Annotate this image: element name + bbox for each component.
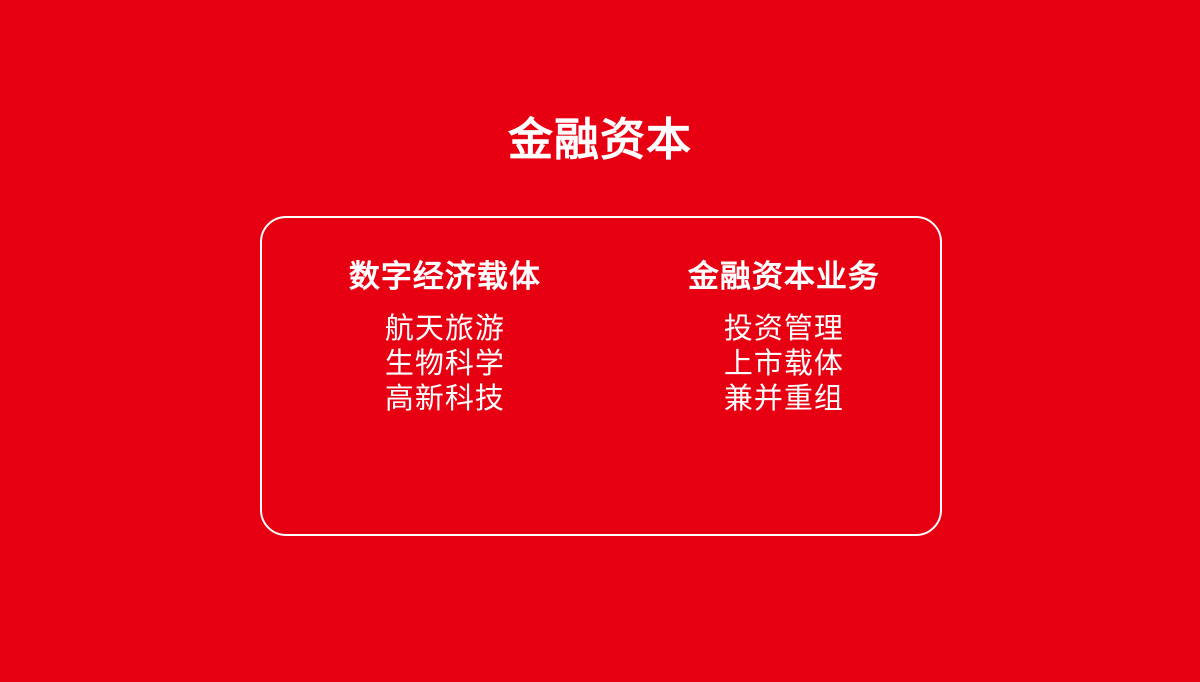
list-item: 兼并重组 — [628, 382, 940, 417]
list-item: 高新科技 — [262, 382, 628, 417]
slide-canvas: 金融资本 数字经济载体 航天旅游 生物科学 高新科技 金融资本业务 投资管理 上… — [0, 0, 1200, 682]
list-item: 航天旅游 — [262, 312, 628, 347]
list-item: 投资管理 — [628, 312, 940, 347]
column-digital-economy: 数字经济载体 航天旅游 生物科学 高新科技 — [262, 258, 628, 417]
column-list-digital-economy: 航天旅游 生物科学 高新科技 — [262, 312, 628, 417]
column-header-financial-capital-business: 金融资本业务 — [628, 258, 940, 296]
list-item: 生物科学 — [262, 347, 628, 382]
column-header-digital-economy: 数字经济载体 — [262, 258, 628, 296]
list-item: 上市载体 — [628, 347, 940, 382]
page-title: 金融资本 — [0, 112, 1200, 168]
card-columns: 数字经济载体 航天旅游 生物科学 高新科技 金融资本业务 投资管理 上市载体 兼… — [262, 218, 940, 534]
column-list-financial-capital-business: 投资管理 上市载体 兼并重组 — [628, 312, 940, 417]
column-financial-capital-business: 金融资本业务 投资管理 上市载体 兼并重组 — [628, 258, 940, 417]
content-card: 数字经济载体 航天旅游 生物科学 高新科技 金融资本业务 投资管理 上市载体 兼… — [260, 216, 942, 536]
